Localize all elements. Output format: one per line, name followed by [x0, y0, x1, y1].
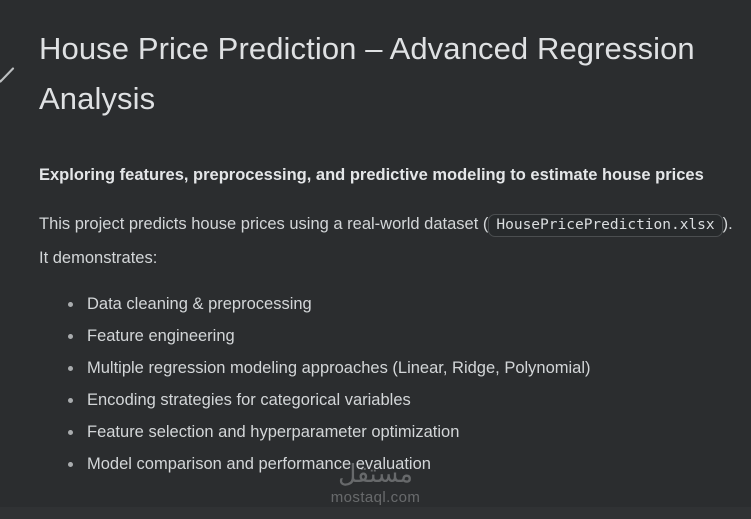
- readme-subtitle: Exploring features, preprocessing, and p…: [39, 162, 736, 189]
- list-item: Feature selection and hyperparameter opt…: [39, 422, 739, 443]
- list-item-label: Encoding strategies for categorical vari…: [87, 391, 411, 409]
- bullet-icon: [68, 430, 73, 435]
- readme-surface: House Price Prediction – Advanced Regres…: [0, 0, 751, 519]
- bullet-icon: [68, 398, 73, 403]
- list-item: Multiple regression modeling approaches …: [39, 358, 739, 379]
- list-item: Data cleaning & preprocessing: [39, 294, 739, 315]
- list-item-label: Feature engineering: [87, 327, 235, 345]
- readme-content: House Price Prediction – Advanced Regres…: [39, 24, 739, 486]
- intro-paragraph: This project predicts house prices using…: [39, 208, 739, 275]
- watermark-domain: mostaql.com: [0, 488, 751, 507]
- bullet-icon: [68, 366, 73, 371]
- bottom-band: [0, 507, 751, 519]
- list-item: Model comparison and performance evaluat…: [39, 454, 739, 475]
- bullet-icon: [68, 302, 73, 307]
- list-item-label: Model comparison and performance evaluat…: [87, 455, 431, 473]
- bullet-icon: [68, 334, 73, 339]
- list-item: Encoding strategies for categorical vari…: [39, 390, 739, 411]
- list-item: Feature engineering: [39, 326, 739, 347]
- list-item-label: Data cleaning & preprocessing: [87, 295, 312, 313]
- list-item-label: Feature selection and hyperparameter opt…: [87, 423, 459, 441]
- feature-list: Data cleaning & preprocessing Feature en…: [39, 294, 739, 475]
- intro-text-before-code: This project predicts house prices using…: [39, 215, 488, 233]
- dataset-filename-code: HousePricePrediction.xlsx: [488, 214, 722, 237]
- bullet-icon: [68, 462, 73, 467]
- list-item-label: Multiple regression modeling approaches …: [87, 359, 591, 377]
- page-title: House Price Prediction – Advanced Regres…: [39, 24, 739, 124]
- check-icon: [0, 62, 17, 88]
